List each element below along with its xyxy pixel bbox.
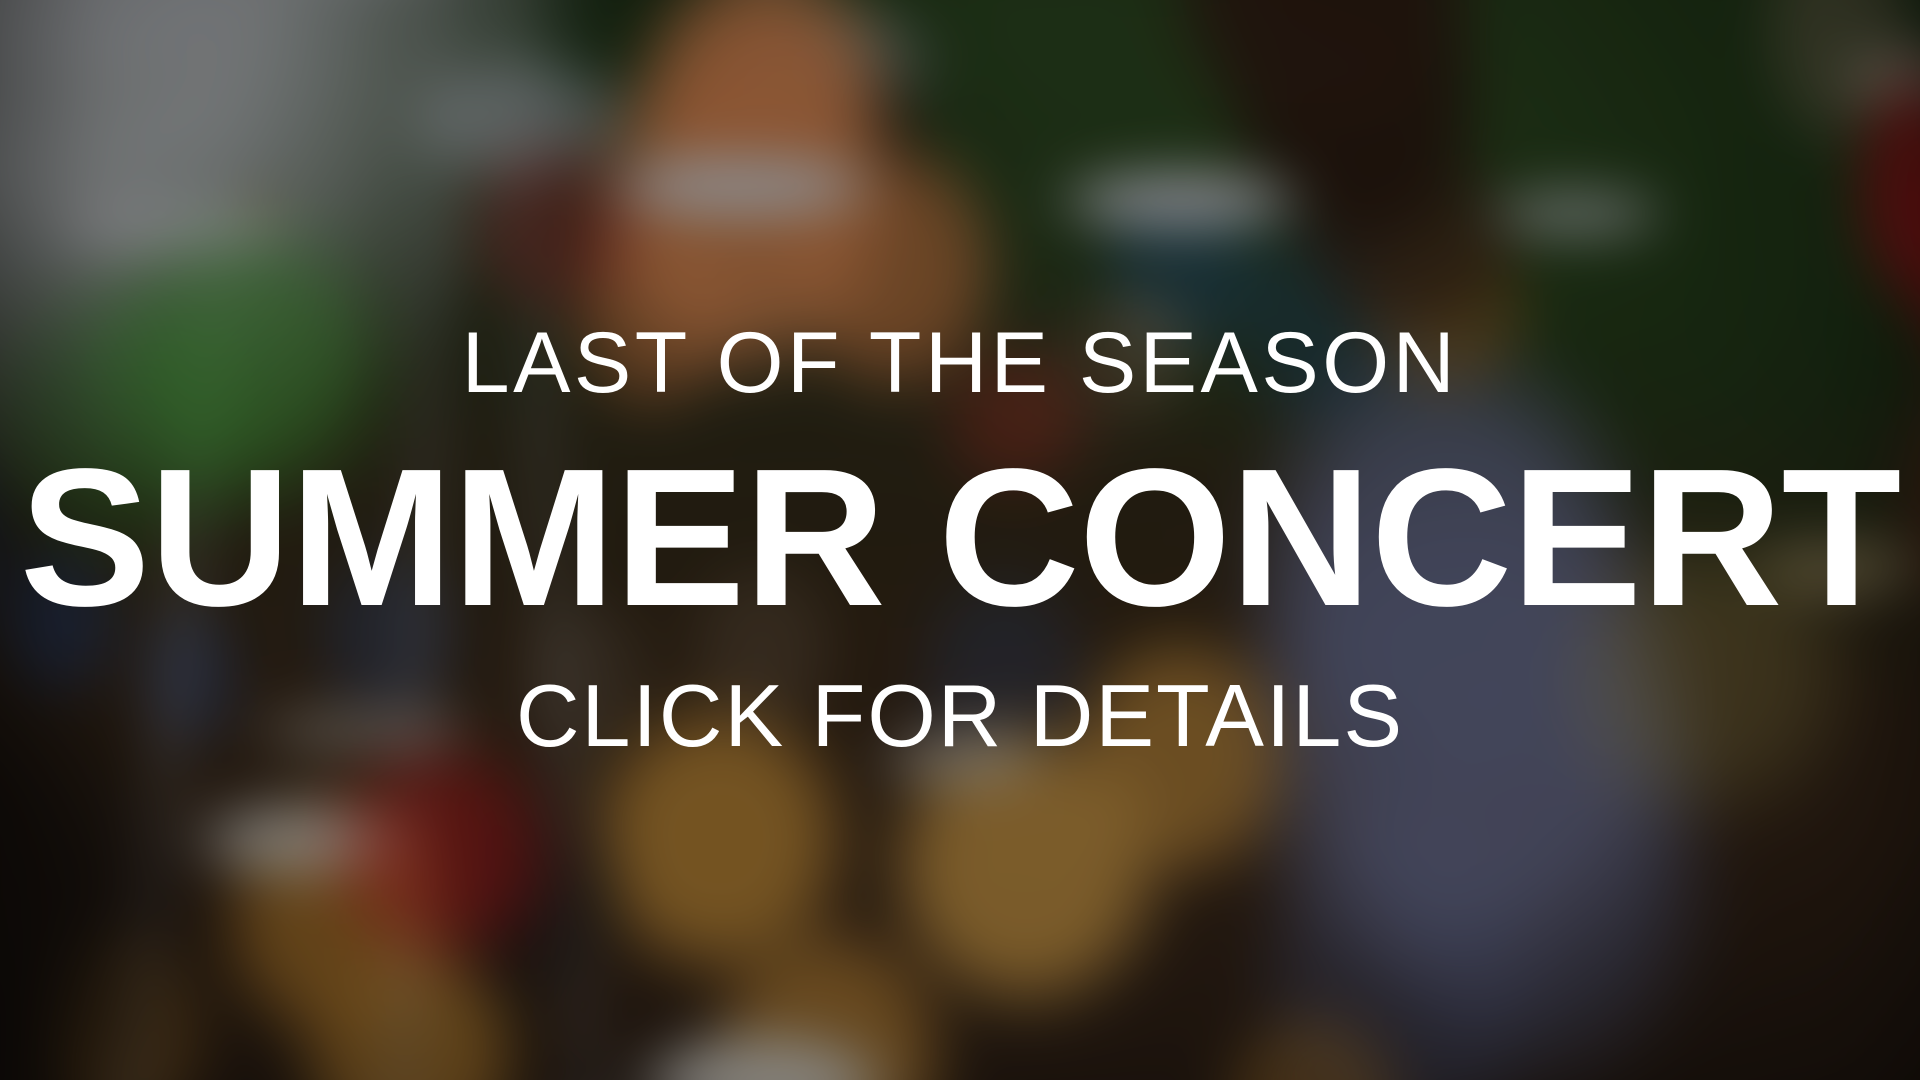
banner-headline: SUMMER CONCERT xyxy=(20,440,1901,636)
summer-concert-banner[interactable]: LAST OF THE SEASON SUMMER CONCERT CLICK … xyxy=(0,0,1920,1080)
banner-call-to-action[interactable]: CLICK FOR DETAILS xyxy=(516,672,1404,760)
banner-eyebrow-text: LAST OF THE SEASON xyxy=(462,320,1459,406)
banner-text-overlay: LAST OF THE SEASON SUMMER CONCERT CLICK … xyxy=(0,0,1920,1080)
